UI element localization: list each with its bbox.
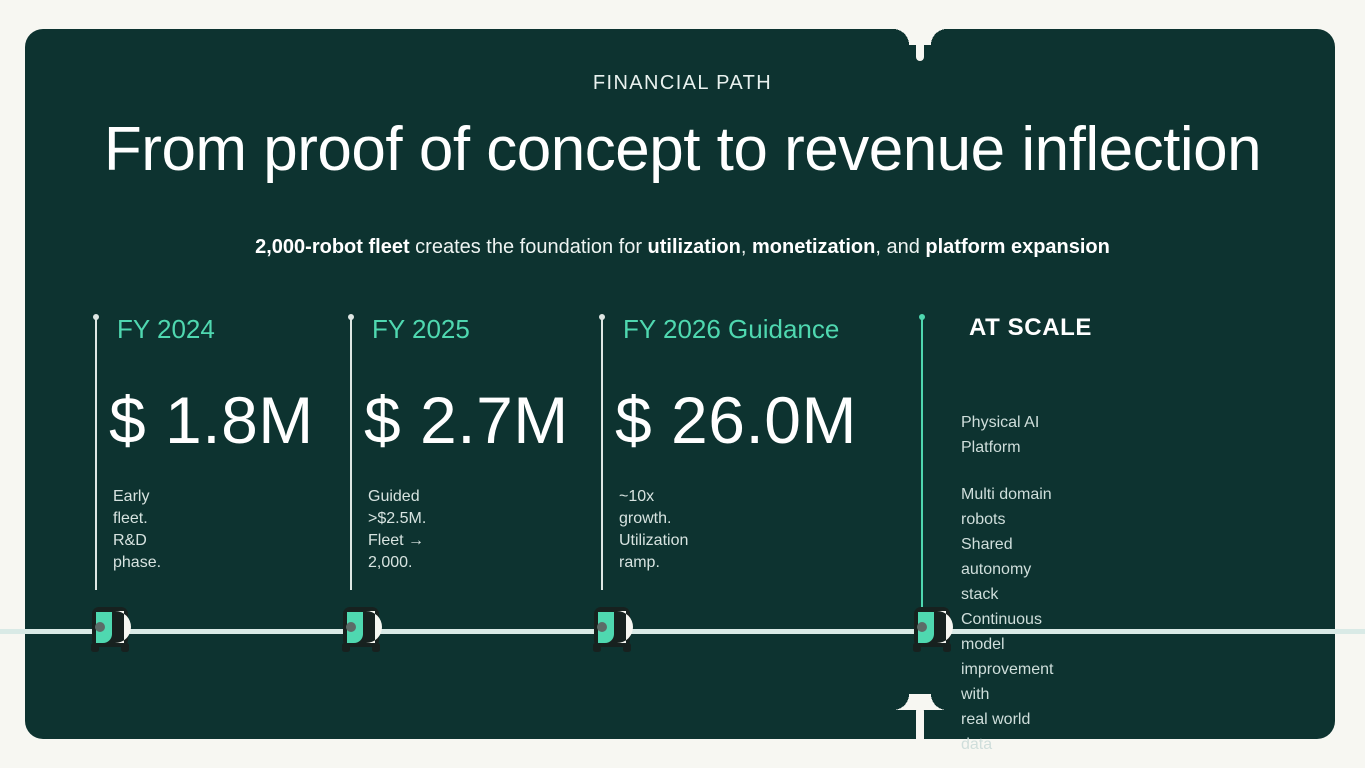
column-dot bbox=[919, 314, 925, 320]
column-value: $ 2.7M bbox=[364, 382, 569, 458]
column-rule bbox=[921, 318, 923, 630]
column-label: FY 2026 Guidance bbox=[623, 314, 839, 345]
card-notch-bottom bbox=[916, 707, 924, 739]
column-label: FY 2024 bbox=[117, 314, 215, 345]
robot-icon[interactable] bbox=[589, 605, 635, 655]
column-label: AT SCALE bbox=[969, 314, 1092, 342]
column-notes-lead: Physical AI Platform bbox=[961, 414, 1039, 456]
column-label: FY 2025 bbox=[372, 314, 470, 345]
column-dot bbox=[599, 314, 605, 320]
column-value: $ 26.0M bbox=[615, 382, 857, 458]
notes-spacer bbox=[961, 460, 1053, 482]
column-notes: Physical AI PlatformMulti domain robots … bbox=[961, 410, 1053, 757]
column-rule bbox=[95, 318, 97, 590]
timeline-track-line bbox=[0, 629, 1365, 634]
column-rule bbox=[350, 318, 352, 590]
column-value: $ 1.8M bbox=[109, 382, 314, 458]
card-notch-top bbox=[916, 29, 924, 61]
column-dot bbox=[93, 314, 99, 320]
robot-icon[interactable] bbox=[87, 605, 133, 655]
slide-root: FINANCIAL PATH From proof of concept to … bbox=[0, 0, 1365, 768]
column-notes: Guided >$2.5M. Fleet → 2,000. bbox=[368, 486, 426, 574]
column-notes: ~10x growth. Utilization ramp. bbox=[619, 486, 688, 574]
column-notes: Early fleet. R&D phase. bbox=[113, 486, 161, 574]
robot-icon[interactable] bbox=[909, 605, 955, 655]
column-dot bbox=[348, 314, 354, 320]
column-notes-list: Multi domain robots Shared autonomy stac… bbox=[961, 486, 1053, 753]
timeline-columns: FY 2024 $ 1.8M Early fleet. R&D phase. F… bbox=[0, 0, 1365, 768]
robot-icon[interactable] bbox=[338, 605, 384, 655]
column-rule bbox=[601, 318, 603, 590]
